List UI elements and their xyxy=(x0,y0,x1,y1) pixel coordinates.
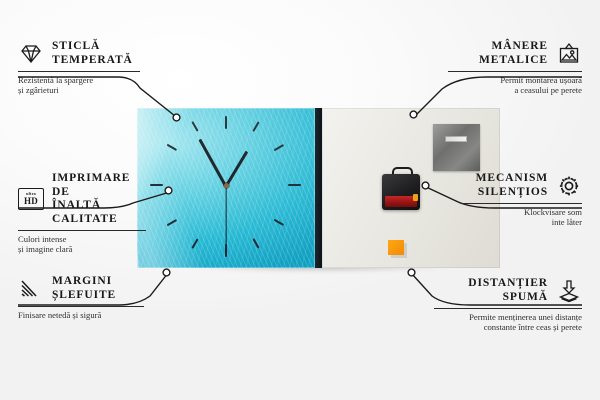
callout-title: MÂNERE METALICE xyxy=(479,40,548,67)
hour-tick xyxy=(274,219,284,226)
callout-rule xyxy=(448,71,582,72)
clock-front-panel xyxy=(137,108,315,268)
minute-hand xyxy=(198,139,227,188)
callout-title: MARGINI ȘLEFUITE xyxy=(52,275,116,302)
callout-subtitle: Rezistentă la spargere și zgârieturi xyxy=(18,75,140,96)
callout-metal-handles[interactable]: MÂNERE METALICE Permit montarea ușoară a… xyxy=(448,40,582,96)
hour-hand xyxy=(225,151,249,188)
callout-subtitle: Klockvisare som inte låter xyxy=(462,207,582,228)
callout-rule xyxy=(18,306,144,307)
callout-header: MARGINI ȘLEFUITE xyxy=(18,275,144,302)
callout-subtitle: Permit montarea ușoară a ceasului pe per… xyxy=(448,75,582,96)
callout-title: IMPRIMARE DE ÎNALTĂ CALITATE xyxy=(52,172,146,226)
callout-rule xyxy=(434,308,582,309)
hour-tick xyxy=(225,244,227,257)
callout-subtitle: Finisare netedă și sigură xyxy=(18,310,144,320)
product-image xyxy=(137,108,500,268)
diamond-icon xyxy=(18,42,44,66)
polished-edges-icon xyxy=(18,277,44,301)
hour-tick xyxy=(274,144,284,151)
callout-foam-spacer[interactable]: DISTANȚIER SPUMĂ Permite menținerea unei… xyxy=(434,277,582,333)
ultra-hd-main-label: HD xyxy=(24,197,38,206)
callout-rule xyxy=(462,203,582,204)
callout-header: MECANISM SILENȚIOS xyxy=(462,172,582,199)
callout-title: DISTANȚIER SPUMĂ xyxy=(468,277,548,304)
callout-high-quality-print[interactable]: ultra HD IMPRIMARE DE ÎNALTĂ CALITATE Cu… xyxy=(18,172,146,255)
callout-silent-mechanism[interactable]: MECANISM SILENȚIOS Klockvisare som inte … xyxy=(462,172,582,228)
hour-tick xyxy=(167,144,177,151)
callout-subtitle: Culori intense și imagine clară xyxy=(18,234,146,255)
hour-tick xyxy=(191,238,198,248)
foam-spacer-icon xyxy=(556,279,582,303)
callout-header: STICLĂ TEMPERATĂ xyxy=(18,40,140,67)
hour-tick xyxy=(167,219,177,226)
hour-tick xyxy=(288,184,301,186)
hour-tick xyxy=(150,184,163,186)
battery-tip xyxy=(413,194,418,201)
panel-side-edge xyxy=(315,108,322,268)
picture-frame-icon xyxy=(556,42,582,66)
callout-subtitle: Permite menținerea unei distanțe constan… xyxy=(434,312,582,333)
second-hand xyxy=(225,186,226,246)
callout-polished-edges[interactable]: MARGINI ȘLEFUITE Finisare netedă și sigu… xyxy=(18,275,144,320)
callout-header: DISTANȚIER SPUMĂ xyxy=(434,277,582,304)
callout-title: STICLĂ TEMPERATĂ xyxy=(52,40,133,67)
callout-tempered-glass[interactable]: STICLĂ TEMPERATĂ Rezistentă la spargere … xyxy=(18,40,140,96)
hour-tick xyxy=(191,121,198,131)
clock-hub xyxy=(224,183,229,188)
metal-hanger-part xyxy=(433,124,480,171)
hour-tick xyxy=(252,121,259,131)
callout-rule xyxy=(18,230,146,231)
infographic-stage: STICLĂ TEMPERATĂ Rezistentă la spargere … xyxy=(0,0,600,400)
callout-header: ultra HD IMPRIMARE DE ÎNALTĂ CALITATE xyxy=(18,172,146,226)
hanger-slot xyxy=(445,136,467,142)
hour-tick xyxy=(225,116,227,129)
ultra-hd-icon: ultra HD xyxy=(18,188,44,210)
gear-icon xyxy=(556,174,582,198)
foam-spacer-part xyxy=(388,240,404,255)
callout-rule xyxy=(18,71,140,72)
callout-title: MECANISM SILENȚIOS xyxy=(476,172,548,199)
hour-tick xyxy=(252,238,259,248)
callout-header: MÂNERE METALICE xyxy=(448,40,582,67)
